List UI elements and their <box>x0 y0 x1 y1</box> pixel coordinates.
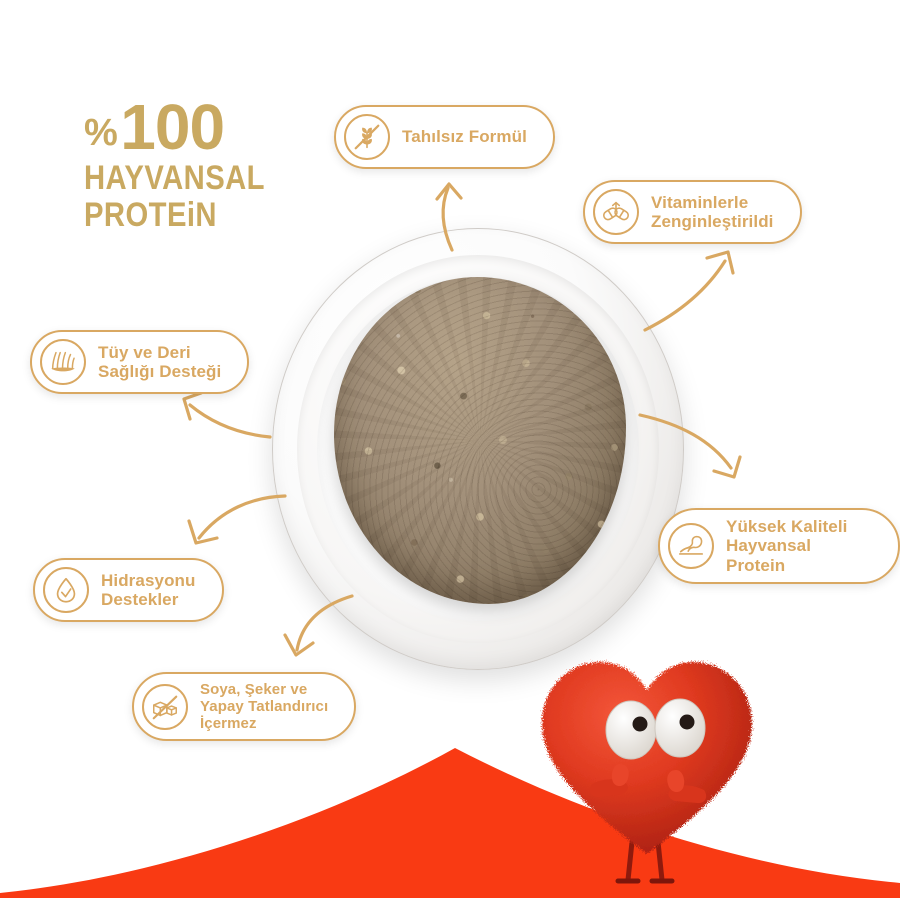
meat-drumstick-icon <box>668 523 714 569</box>
badge-hydration[interactable]: Hidrasyonu Destekler <box>33 558 224 622</box>
badge-vitamin-enriched[interactable]: Vitaminlerle Zenginleştirildi <box>583 180 802 244</box>
badge-no-soy-sugar-sweetener[interactable]: Soya, Şeker ve Yapay Tatlandırıcı İçerme… <box>132 672 356 741</box>
badge-protein-label: Yüksek Kaliteli Hayvansal Protein <box>726 517 872 575</box>
wheat-no-icon <box>344 114 390 160</box>
arrow-to-skin-coat <box>184 393 270 437</box>
ground-meat-pate <box>334 277 627 604</box>
product-feature-infographic: % 100 HAYVANSAL PROTEiN <box>0 0 900 898</box>
badge-vitamin-label: Vitaminlerle Zenginleştirildi <box>651 193 774 232</box>
badge-high-quality-protein[interactable]: Yüksek Kaliteli Hayvansal Protein <box>658 508 900 584</box>
food-plate <box>272 228 684 670</box>
fur-skin-icon <box>40 339 86 385</box>
headline-line-3: PROTEiN <box>84 200 265 231</box>
badge-grain-free[interactable]: Tahılsız Formül <box>334 105 555 169</box>
badge-grain-free-label: Tahılsız Formül <box>402 127 527 146</box>
arrow-to-hydration <box>189 496 285 543</box>
percent-symbol: % <box>84 116 118 157</box>
badge-skin-coat-label: Tüy ve Deri Sağlığı Desteği <box>98 343 221 382</box>
water-drop-check-icon <box>43 567 89 613</box>
heart-mascot <box>532 632 762 884</box>
sugar-cubes-no-icon <box>142 684 188 730</box>
percent-value: 100 <box>120 98 224 157</box>
headline-line-2: HAYVANSAL <box>84 163 265 194</box>
badge-skin-coat[interactable]: Tüy ve Deri Sağlığı Desteği <box>30 330 249 394</box>
badge-no-sugar-label: Soya, Şeker ve Yapay Tatlandırıcı İçerme… <box>200 681 328 732</box>
mascot-body <box>542 662 752 854</box>
headline-block: % 100 HAYVANSAL PROTEiN <box>84 98 294 231</box>
vitamin-capsule-icon <box>593 189 639 235</box>
badge-hydration-label: Hidrasyonu Destekler <box>101 571 196 610</box>
headline-percent-line: % 100 <box>84 98 294 157</box>
red-peak-banner <box>0 728 900 898</box>
